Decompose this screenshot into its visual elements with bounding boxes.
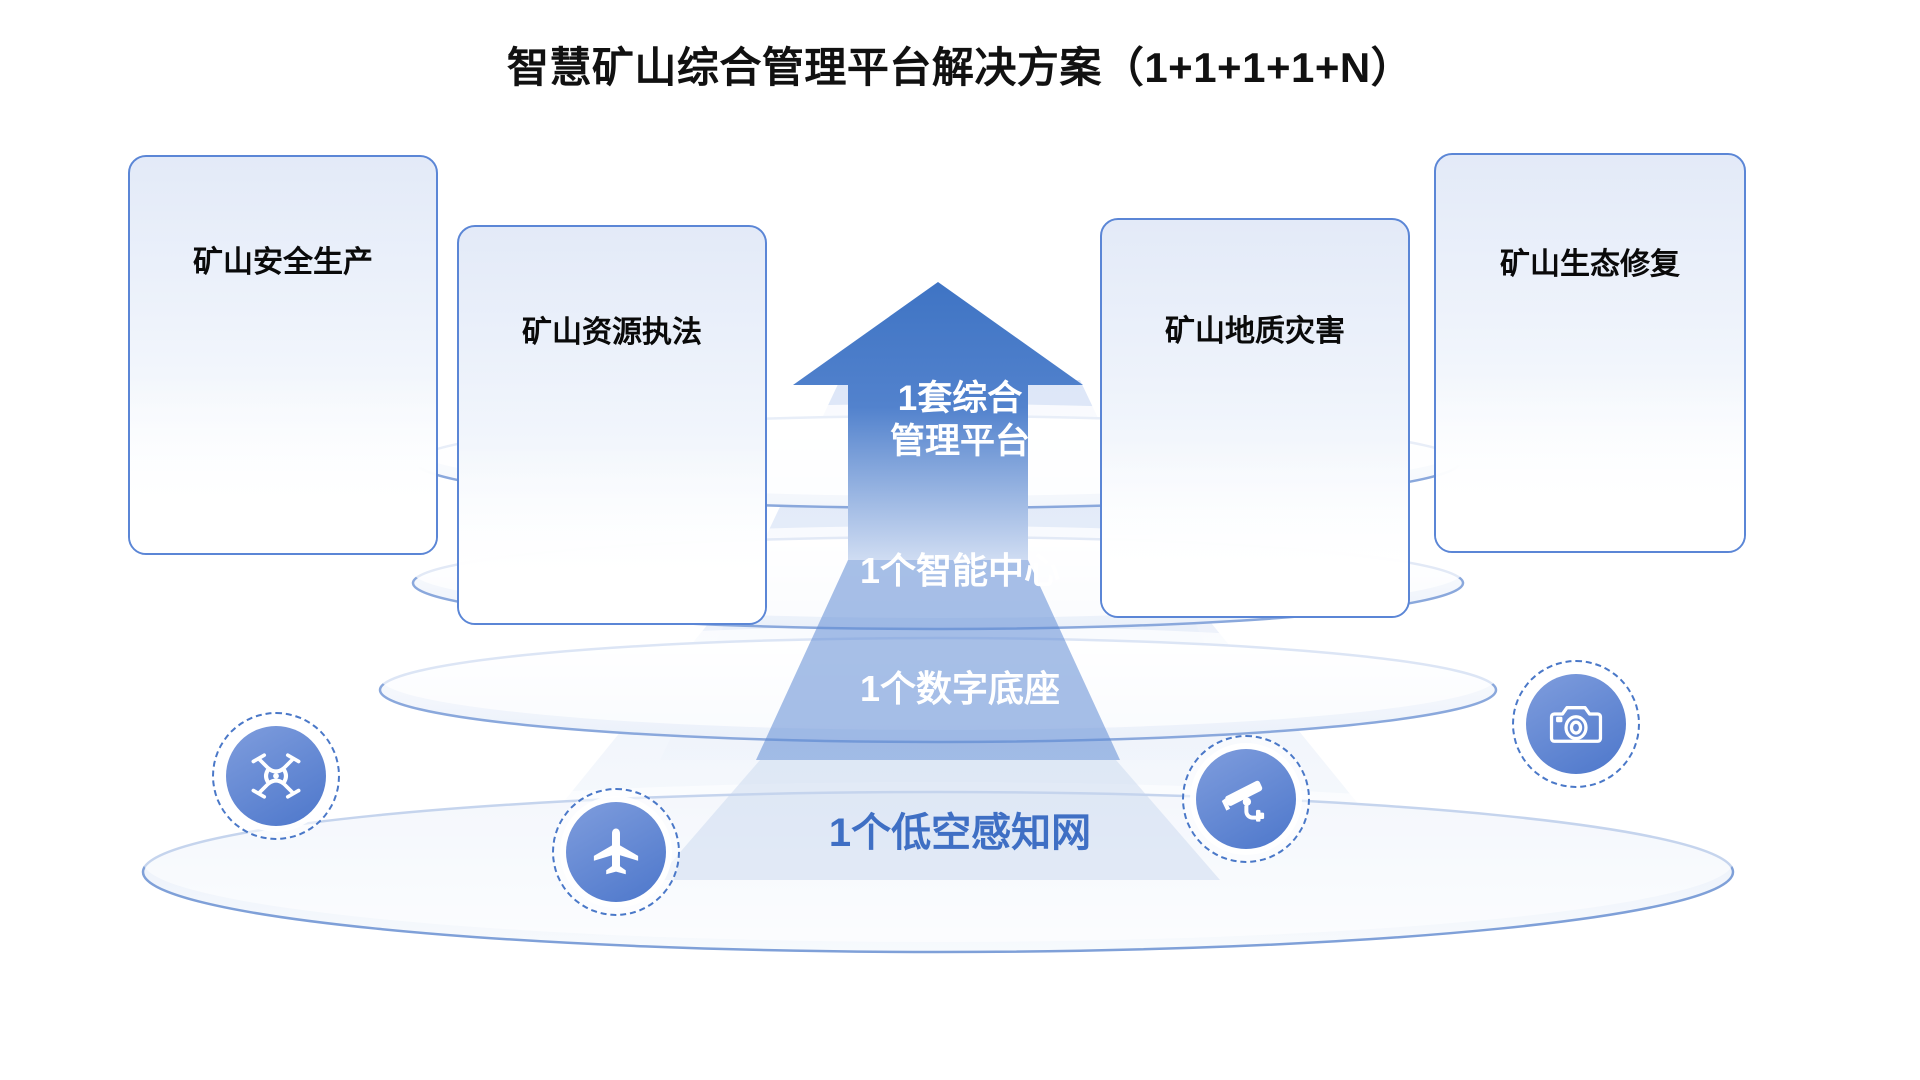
photo-camera-icon [1547, 695, 1605, 753]
domain-card-mine-safety-production[interactable]: 矿山安全生产 [128, 155, 438, 555]
arrow-label-line2: 管理平台 [0, 421, 1920, 464]
badge-drone[interactable] [212, 712, 340, 840]
airplane-icon [587, 823, 645, 881]
cctv-camera-icon [1217, 770, 1275, 828]
arrow-label-integrated-platform: 1套综合 管理平台 [0, 378, 1920, 463]
badge-airplane[interactable] [552, 788, 680, 916]
domain-card-label: 矿山资源执法 [459, 307, 765, 351]
domain-card-label: 矿山地质灾害 [1102, 306, 1408, 350]
layer-label-intelligent-center: 1个智能中心 [0, 542, 1920, 594]
badge-circle [226, 726, 326, 826]
badge-photo-camera[interactable] [1512, 660, 1640, 788]
page-title: 智慧矿山综合管理平台解决方案（1+1+1+1+N） [0, 34, 1920, 95]
slide-canvas: 智慧矿山综合管理平台解决方案（1+1+1+1+N） [0, 0, 1920, 1080]
badge-circle [1196, 749, 1296, 849]
badge-circle [1526, 674, 1626, 774]
domain-card-label: 矿山生态修复 [1436, 239, 1744, 283]
arrow-label-line1: 1套综合 [0, 378, 1920, 421]
badge-cctv-camera[interactable] [1182, 735, 1310, 863]
badge-circle [566, 802, 666, 902]
domain-card-mine-ecological-restoration[interactable]: 矿山生态修复 [1434, 153, 1746, 553]
drone-icon [247, 747, 305, 805]
domain-card-label: 矿山安全生产 [130, 237, 436, 281]
